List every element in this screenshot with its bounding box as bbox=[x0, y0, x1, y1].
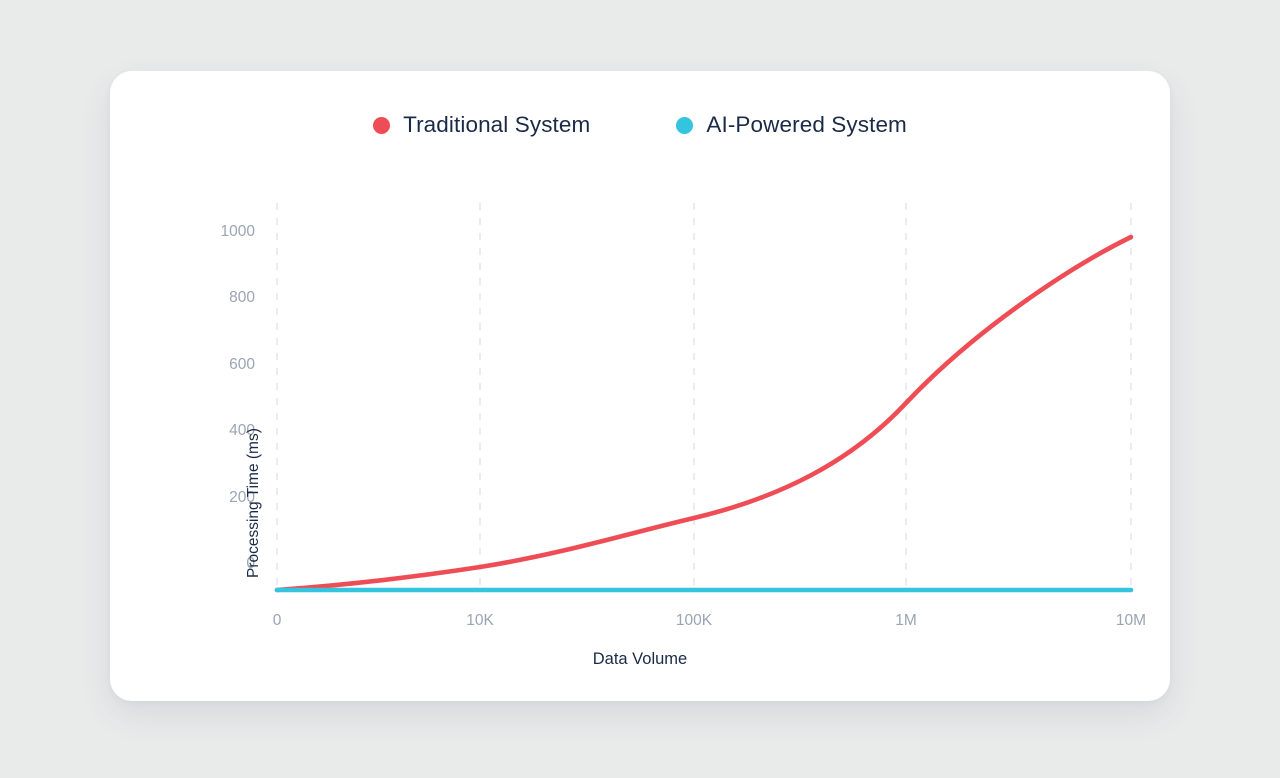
series-line-traditional-system bbox=[277, 237, 1131, 590]
x-tick-label-10k: 10K bbox=[440, 612, 520, 630]
x-tick-label-10m: 10M bbox=[1091, 612, 1171, 630]
chart-card: Traditional System AI-Powered System bbox=[110, 71, 1170, 701]
x-tick-label-0: 0 bbox=[237, 612, 317, 630]
x-axis-title: Data Volume bbox=[110, 650, 1170, 669]
x-tick-label-100k: 100K bbox=[654, 612, 734, 630]
x-tick-label-1m: 1M bbox=[866, 612, 946, 630]
y-axis-title-text: Processing Time (ms) bbox=[245, 428, 263, 578]
page-root: Traditional System AI-Powered System bbox=[0, 0, 1280, 778]
chart-gridlines bbox=[277, 203, 1131, 587]
chart-plot-area: 1000 800 600 400 200 0 0 10K 100K 1M 10M… bbox=[110, 71, 1170, 701]
y-axis-title: Processing Time (ms) bbox=[245, 145, 263, 365]
chart-svg bbox=[110, 71, 1170, 701]
